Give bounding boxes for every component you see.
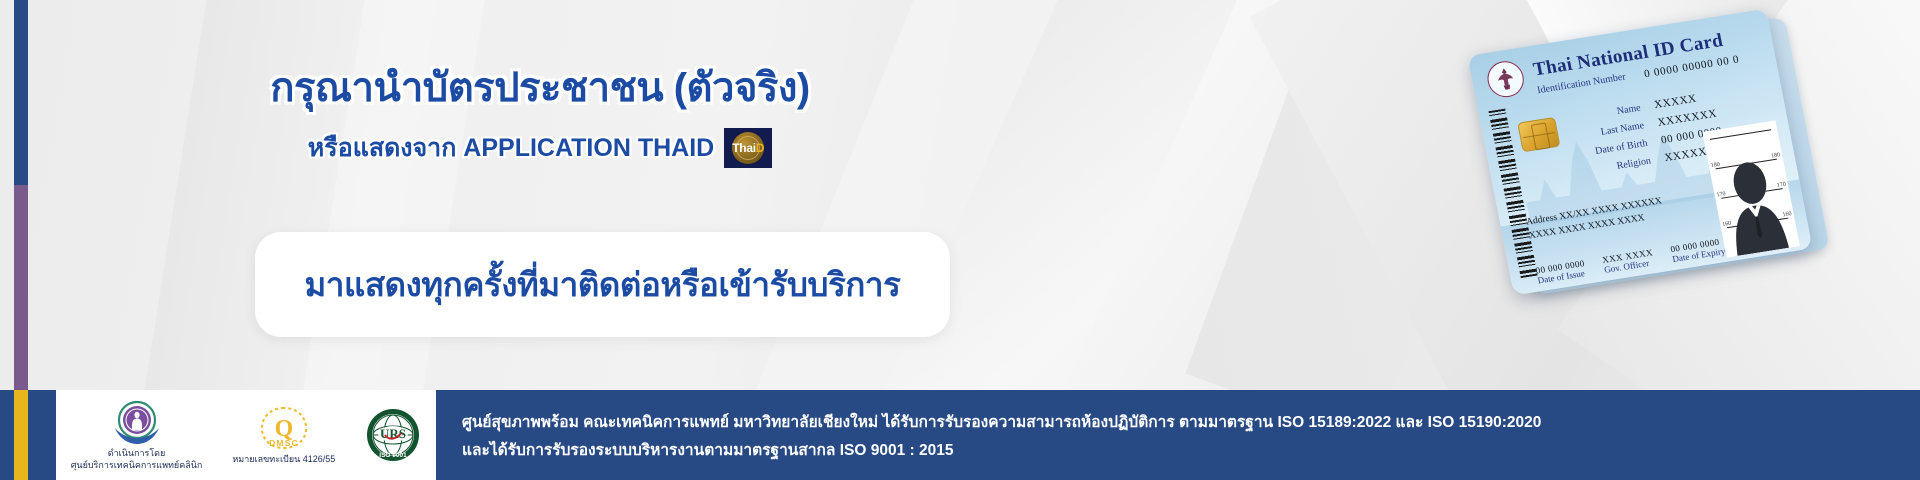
- garuda-seal-glyph: [1490, 64, 1521, 94]
- thaid-wordmark-d: D: [756, 141, 764, 155]
- urs-iso9001-logo-icon: URS ISO 9001: [365, 407, 421, 463]
- left-accent-stripe-purple: [14, 185, 28, 390]
- headline-block: กรุณานำบัตรประชาชน (ตัวจริง) หรือแสดงจาก…: [250, 55, 830, 168]
- headline-secondary: หรือแสดงจาก APPLICATION THAID: [308, 128, 714, 168]
- footer-logo-item: URS ISO 9001: [365, 407, 421, 463]
- left-accent-stripe-blue: [14, 0, 28, 185]
- amtc-clinic-logo-icon: [110, 399, 164, 445]
- footer-logo-item: Q DMSC หมายเลขทะเบียน 4126/55: [232, 405, 335, 465]
- footer-logo-caption-line-2: ศุนย์บริการเทคนิคการแพทย์คลินิก: [71, 460, 203, 471]
- footer-bar: ดำเนินการโดย ศุนย์บริการเทคนิคการแพทย์คล…: [0, 390, 1920, 480]
- footer-navy-stripe: [28, 390, 56, 480]
- card-title: Thai National ID Card: [1531, 30, 1725, 82]
- card-field-label: Religion: [1583, 155, 1652, 176]
- footer-text-line-2: และได้รับการรับรองระบบบริหารงานตามมาตรฐา…: [462, 437, 1920, 462]
- card-smart-chip-icon: [1517, 117, 1560, 152]
- thaid-app-icon[interactable]: ThaiD: [724, 128, 772, 168]
- id-card-front: Thai National ID Card Identification Num…: [1467, 9, 1812, 296]
- footer-left-stripe-group: [0, 390, 28, 480]
- dmsc-quality-assurance-logo-icon: Q DMSC: [258, 405, 310, 451]
- footer-logo-panel: ดำเนินการโดย ศุนย์บริการเทคนิคการแพทย์คล…: [56, 390, 436, 480]
- portrait-silhouette-icon: [1717, 153, 1791, 256]
- footer-logo-item: ดำเนินการโดย ศุนย์บริการเทคนิคการแพทย์คล…: [71, 399, 203, 471]
- callout-card: มาแสดงทุกครั้งที่มาติดต่อหรือเข้ารับบริก…: [255, 232, 950, 337]
- headline-secondary-row: หรือแสดงจาก APPLICATION THAID ThaiD: [250, 128, 830, 168]
- svg-text:DMSC: DMSC: [269, 438, 299, 448]
- footer-logo-caption-line-1: ดำเนินการโดย: [71, 448, 203, 459]
- height-rule: [1710, 129, 1771, 140]
- thaid-wordmark: ThaiD: [732, 142, 764, 154]
- thai-national-id-card-illustration: Thai National ID Card Identification Num…: [1485, 18, 1905, 318]
- footer-logo-caption: หมายเลขทะเบียน 4126/55: [232, 454, 335, 465]
- footer-logo-caption-line-1: หมายเลขทะเบียน 4126/55: [232, 454, 335, 465]
- footer-text-line-1: ศูนย์สุขภาพพร้อม คณะเทคนิคการแพทย์ มหาวิ…: [462, 409, 1920, 434]
- headline-primary: กรุณานำบัตรประชาชน (ตัวจริง): [250, 55, 830, 119]
- id-card-requirement-banner: กรุณานำบัตรประชาชน (ตัวจริง) หรือแสดงจาก…: [0, 0, 1920, 480]
- footer-logo-caption: ดำเนินการโดย ศุนย์บริการเทคนิคการแพทย์คล…: [71, 448, 203, 471]
- thaid-wordmark-thai: Thai: [732, 141, 755, 155]
- garuda-seal-icon: [1484, 59, 1526, 100]
- footer-accreditation-text: ศูนย์สุขภาพพร้อม คณะเทคนิคการแพทย์ มหาวิ…: [436, 390, 1920, 480]
- svg-text:ISO 9001: ISO 9001: [380, 452, 408, 459]
- card-field-value: XXXXX: [1653, 93, 1698, 111]
- footer-gold-stripe: [14, 390, 28, 480]
- card-field-value: XXXXXXX: [1657, 108, 1718, 129]
- callout-message: มาแสดงทุกครั้งที่มาติดต่อหรือเข้ารับบริก…: [305, 258, 901, 311]
